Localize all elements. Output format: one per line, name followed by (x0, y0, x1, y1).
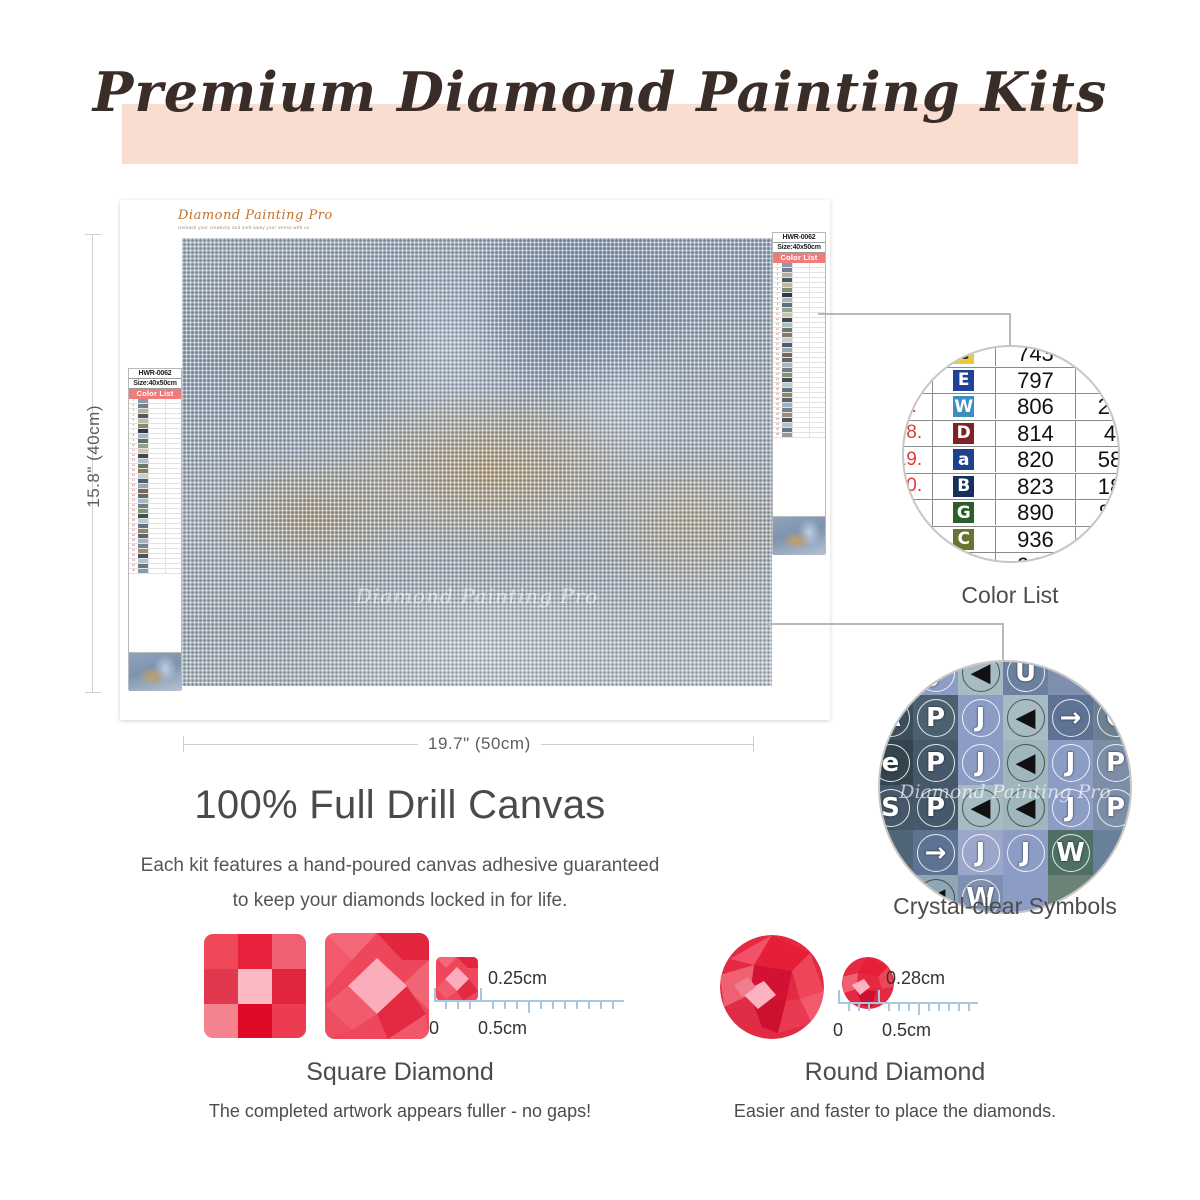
symbol-grid-cell: J (1003, 830, 1048, 875)
color-list-header-left: Color List (129, 389, 181, 399)
magnified-dmc-code: 936 (995, 527, 1076, 552)
square-diamond-title: Square Diamond (125, 1058, 675, 1087)
symbol-icon: K (951, 553, 976, 563)
symbol-icon: B (951, 474, 976, 499)
kit-size-right: Size:40x50cm (773, 243, 825, 253)
color-list-row: 35 (129, 569, 181, 574)
symbol-grid-cell: W (1048, 830, 1093, 875)
symbol-glyph-icon: C (1097, 699, 1133, 737)
connector-symbols-down (1002, 623, 1004, 665)
magnified-color-row: e743 (902, 345, 1120, 368)
symbol-icon: W (951, 394, 976, 419)
magnified-dmc-code: 806 (995, 394, 1076, 419)
color-list-magnified-table: e743E79747.W80620418.D8144019.a82058620.… (902, 345, 1120, 563)
symbol-glyph-icon: J (962, 744, 1000, 782)
round-diamond-caption: Round Diamond Easier and faster to place… (620, 1058, 1170, 1122)
symbol-grid-cell: J (1048, 740, 1093, 785)
magnified-color-row: 19.a820586 (902, 447, 1120, 474)
magnified-color-row: E7974 (902, 368, 1120, 395)
magnified-color-row: K947 (902, 553, 1120, 563)
kit-code-left: HWR-0062 (129, 369, 181, 379)
symbol-grid-cell: P (913, 695, 958, 740)
magnified-color-row: 18.D81440 (902, 421, 1120, 448)
artwork-thumbnail-right (773, 516, 825, 555)
magnified-quantity: 204 (1075, 394, 1120, 419)
symbol-grid-cell (1093, 660, 1132, 695)
symbol-glyph-icon: P (1097, 744, 1133, 782)
brand-logo-tagline: Unleash your creativity and melt away yo… (178, 225, 358, 230)
symbol-grid-cell: ◀ (1003, 695, 1048, 740)
round-diamond-desc: Easier and faster to place the diamonds. (620, 1101, 1170, 1122)
magnified-row-number: 1. (902, 502, 932, 524)
magnified-color-row: 20.B823187 (902, 474, 1120, 501)
magnified-symbol-cell: B (932, 474, 995, 500)
kit-size-left: Size:40x50cm (129, 379, 181, 389)
full-drill-line1: Each kit features a hand-poured canvas a… (0, 855, 800, 877)
symbol-grid-cell: J (958, 830, 1003, 875)
symbol-glyph-icon: ◀ (1007, 744, 1045, 782)
magnified-dmc-code: 890 (995, 500, 1076, 525)
symbol-glyph-icon: J (962, 699, 1000, 737)
page-title: Premium Diamond Painting Kits (0, 60, 1200, 124)
symbol-glyph-icon: J (962, 834, 1000, 872)
symbol-glyph-icon: S (878, 660, 910, 692)
color-list-row: 35 (773, 433, 825, 438)
symbol-icon: a (951, 447, 976, 472)
color-list-header-right: Color List (773, 253, 825, 263)
magnified-quantity: 40 (1075, 421, 1120, 446)
magnified-dmc-code: 743 (995, 345, 1076, 366)
symbol-grid-cell: S (878, 660, 913, 695)
symbols-watermark: Diamond Painting Pro (899, 781, 1111, 803)
magnified-dmc-code: 797 (995, 368, 1076, 393)
symbol-icon: C (951, 527, 976, 552)
artwork-watermark: Diamond Painting Pro (356, 584, 599, 608)
symbol-grid-cell: P (913, 740, 958, 785)
artwork-thumbnail-left (129, 652, 181, 691)
round-ruler-zero: 0 (833, 1020, 843, 1041)
magnified-symbol-cell: a (932, 447, 995, 473)
round-diamond-large (718, 933, 826, 1041)
symbol-grid-cell (1048, 660, 1093, 695)
dim-width-label: 19.7" (50cm) (418, 734, 541, 754)
symbol-glyph-icon: P (917, 744, 955, 782)
symbol-glyph-icon: → (1052, 699, 1090, 737)
magnified-quantity: 187 (1075, 474, 1120, 499)
color-list-caption: Color List (880, 582, 1140, 609)
color-list-card-left: HWR-0062 Size:40x50cm Color List 1234567… (128, 368, 182, 690)
symbol-icon: e (951, 345, 976, 366)
full-drill-headline: 100% Full Drill Canvas (0, 783, 800, 828)
symbol-glyph-icon: ◀ (1007, 699, 1045, 737)
square-diamond-small (434, 955, 480, 1003)
symbol-glyph-icon: W (1052, 834, 1090, 872)
square-ruler-zero: 0 (429, 1018, 439, 1039)
symbol-glyph-icon: J (1007, 834, 1045, 872)
color-list-rows-left: 1234567891011121314151617181920212223242… (129, 399, 181, 652)
magnified-symbol-cell: C (932, 527, 995, 553)
square-diamond-large (200, 930, 310, 1042)
kit-code-right: HWR-0062 (773, 233, 825, 243)
magnified-color-row: C9369 (902, 527, 1120, 554)
symbol-grid-cell: J (958, 740, 1003, 785)
symbols-caption: Crystal-clear Symbols (865, 893, 1145, 920)
symbol-grid-cell (878, 830, 913, 875)
canvas-sheet: Diamond Painting Pro Unleash your creati… (120, 200, 830, 720)
symbol-grid-cell: A (878, 695, 913, 740)
symbol-grid-cell: ◀ (1003, 740, 1048, 785)
full-drill-line2: to keep your diamonds locked in for life… (0, 890, 800, 912)
magnified-quantity: 9 (1075, 527, 1120, 552)
dim-horizontal-tick-left (183, 736, 184, 752)
symbol-grid-cell: J (958, 695, 1003, 740)
symbol-grid-cell: C (1093, 695, 1132, 740)
square-diamond-faceted (322, 930, 432, 1042)
magnified-row-number: 19. (902, 449, 932, 471)
magnified-color-row: 1.G890811 (902, 500, 1120, 527)
dim-height-label: 15.8" (40cm) (84, 405, 104, 508)
symbol-grid-cell: → (1048, 695, 1093, 740)
symbol-icon: E (951, 368, 976, 393)
magnified-row-number: 18. (902, 422, 932, 444)
magnified-symbol-cell: W (932, 394, 995, 420)
magnified-dmc-code: 823 (995, 474, 1076, 499)
symbol-glyph-icon: ◀ (962, 660, 1000, 692)
color-list-card-right: HWR-0062 Size:40x50cm Color List 1234567… (772, 232, 826, 554)
symbol-glyph-icon: J (917, 660, 955, 692)
magnified-quantity: 586 (1075, 447, 1120, 472)
diamond-painting-artwork: Diamond Painting Pro (182, 238, 772, 686)
dim-vertical-tick-bottom (85, 692, 101, 693)
dim-vertical-tick-top (85, 234, 101, 235)
magnified-row-number: 7. (902, 396, 932, 418)
symbol-grid-cell: → (913, 830, 958, 875)
symbol-grid-cell: U (1003, 660, 1048, 695)
round-ruler-half: 0.5cm (882, 1020, 931, 1041)
brand-logo-text: Diamond Painting Pro (178, 208, 358, 223)
magnified-symbol-cell: G (932, 500, 995, 526)
magnified-color-row: 7.W806204 (902, 394, 1120, 421)
magnified-symbol-cell: K (932, 553, 995, 563)
magnified-symbol-cell: e (932, 345, 995, 367)
symbol-glyph-icon: e (878, 744, 910, 782)
magnified-symbol-cell: E (932, 368, 995, 394)
symbol-glyph-icon: A (878, 699, 910, 737)
infographic-page: Premium Diamond Painting Kits Diamond Pa… (0, 0, 1200, 1200)
magnified-quantity: 4 (1075, 368, 1120, 393)
symbol-grid-cell: J (913, 660, 958, 695)
color-list-magnifier: e743E79747.W80620418.D8144019.a82058620.… (902, 345, 1120, 563)
symbol-grid-cell: e (878, 740, 913, 785)
square-diamond-caption: Square Diamond The completed artwork app… (125, 1058, 675, 1122)
symbol-glyph-icon: J (1052, 744, 1090, 782)
round-size-label: 0.28cm (886, 968, 945, 989)
magnified-dmc-code: 947 (995, 553, 1076, 563)
symbol-icon: D (951, 421, 976, 446)
symbol-grid-cell: P (1093, 740, 1132, 785)
symbol-glyph-icon: U (1007, 660, 1045, 692)
connector-symbols (768, 623, 1004, 625)
square-size-label: 0.25cm (488, 968, 547, 989)
magnified-dmc-code: 820 (995, 447, 1076, 472)
symbols-magnifier: SJ◀UAPJ◀→CePJ◀JPSP◀◀JP→JJW◀W Diamond Pai… (878, 660, 1132, 914)
color-list-rows-right: 1234567891011121314151617181920212223242… (773, 263, 825, 516)
magnified-quantity: 811 (1075, 500, 1120, 525)
square-diamond-desc: The completed artwork appears fuller - n… (125, 1101, 675, 1122)
dim-horizontal-tick-right (753, 736, 754, 752)
symbol-grid-cell (1093, 830, 1132, 875)
magnified-symbol-cell: D (932, 421, 995, 447)
square-ruler-half: 0.5cm (478, 1018, 527, 1039)
symbol-glyph-icon: P (917, 699, 955, 737)
symbol-glyph-icon: → (917, 834, 955, 872)
round-diamond-title: Round Diamond (620, 1058, 1170, 1087)
magnified-row-number: 20. (902, 475, 932, 497)
brand-logo: Diamond Painting Pro Unleash your creati… (178, 208, 358, 238)
symbol-icon: G (951, 500, 976, 525)
magnified-dmc-code: 814 (995, 421, 1076, 446)
symbol-grid-cell: ◀ (958, 660, 1003, 695)
connector-color-list (818, 313, 1011, 315)
